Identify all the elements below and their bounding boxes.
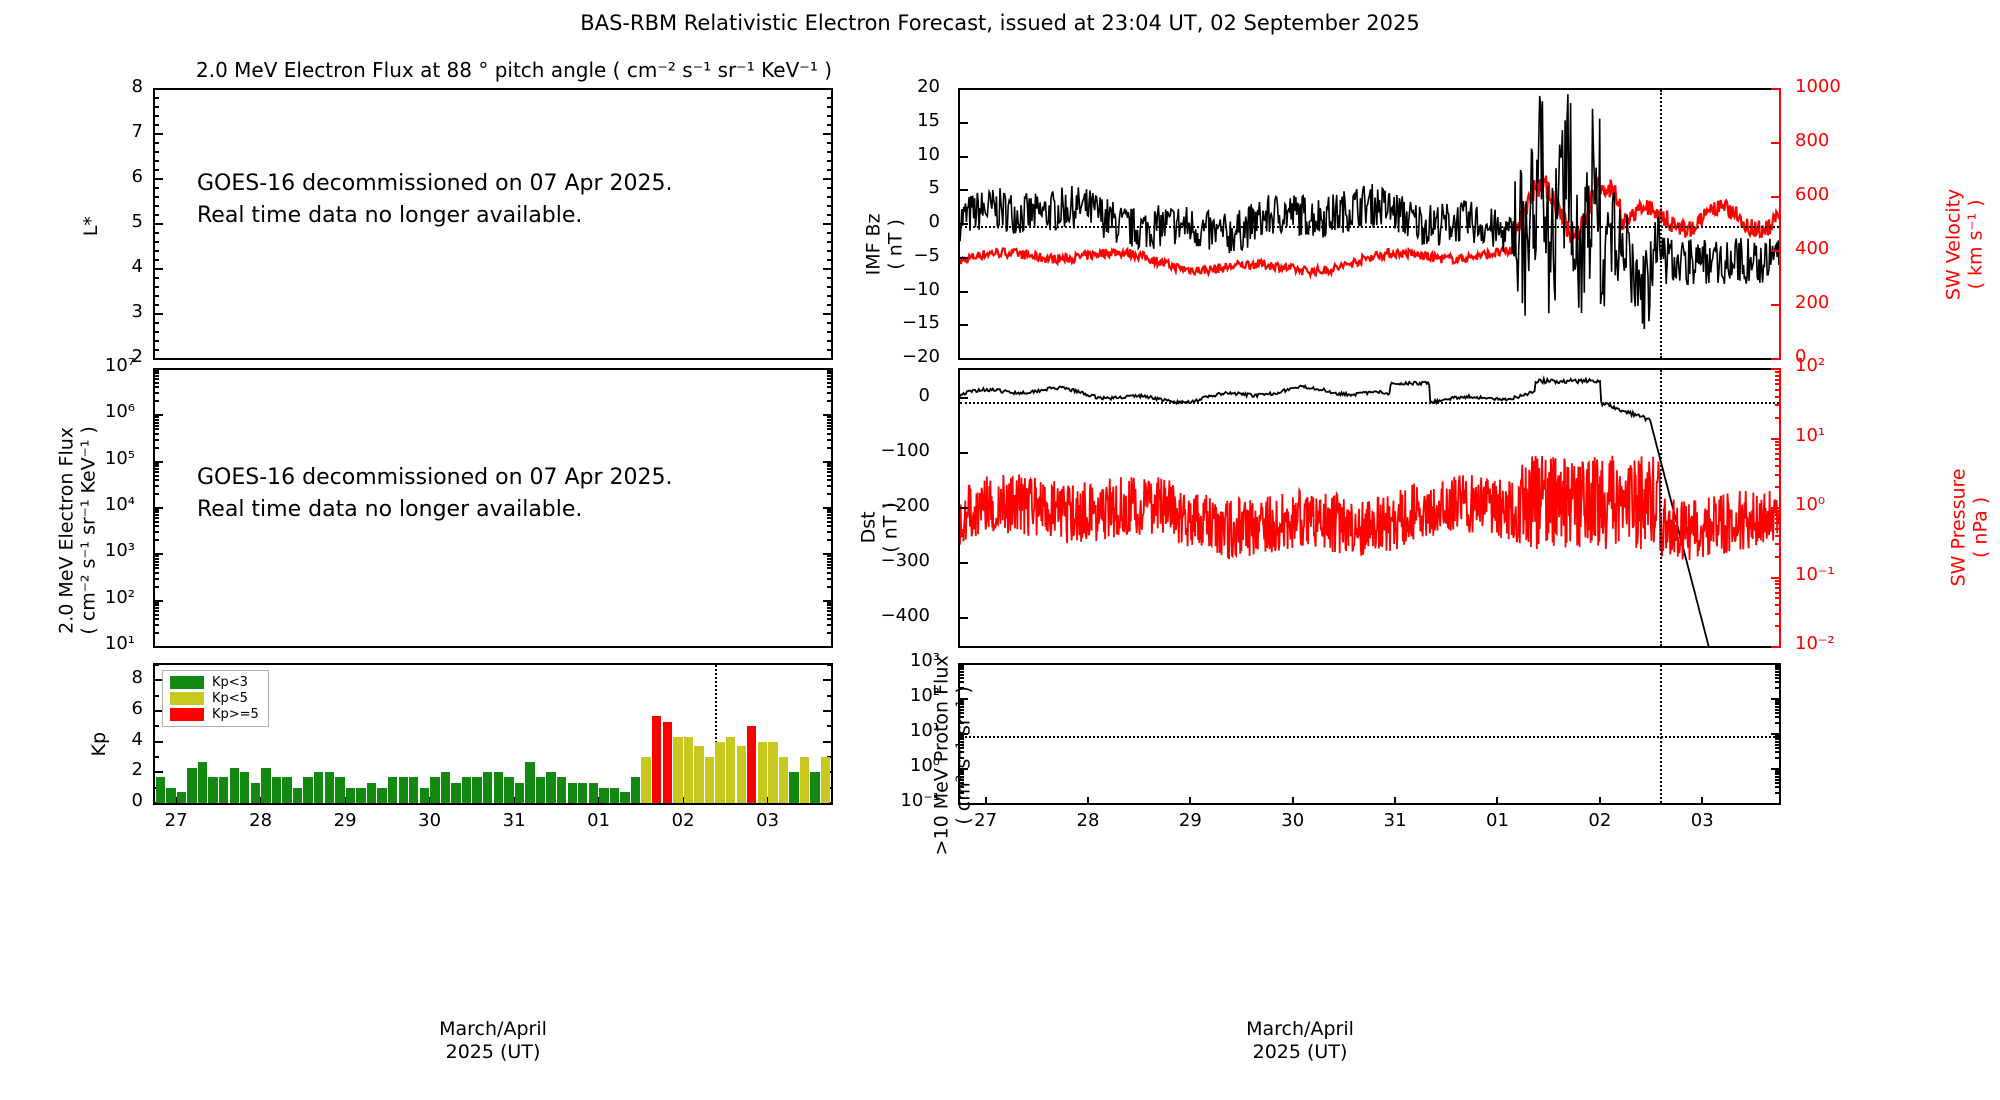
- eflux-yminor: [155, 465, 159, 467]
- lstar-ytickmark-2: [155, 178, 163, 180]
- lstar-ytickmark-1: [155, 133, 163, 135]
- proton-yminor-r: [1775, 771, 1779, 773]
- lstar-yminor-r-11: [827, 187, 831, 189]
- right-xtickmark: [1189, 797, 1191, 805]
- kp-bar: [568, 783, 577, 803]
- imf-bz-trace: [960, 90, 1779, 358]
- left-xtick-30: 30: [395, 810, 465, 831]
- right-xaxis-label: March/April 2025 (UT): [1140, 1018, 1460, 1064]
- swpressure-ytick-0: 10²: [1795, 355, 1885, 376]
- kp-bar: [673, 737, 682, 803]
- lstar-yminor-28: [155, 340, 159, 342]
- eflux-yminor-r: [827, 586, 831, 588]
- eflux-yminor-r: [827, 382, 831, 384]
- lstar-message-line2: Real time data no longer available.: [197, 200, 582, 232]
- eflux-yminor-r: [827, 468, 831, 470]
- kp-legend-label: Kp>=5: [212, 708, 259, 721]
- lstar-yminor-17: [155, 241, 159, 243]
- lstar-ytickmark-r-4: [823, 268, 831, 270]
- eflux-yminor: [155, 558, 159, 560]
- kp-bar: [779, 757, 788, 803]
- kp-legend-swatch: [170, 676, 204, 689]
- imf-ylabel-right: SW Velocity ( km s⁻¹ ): [1943, 134, 1988, 354]
- proton-yminor: [960, 709, 964, 711]
- right-xtickmark: [1394, 797, 1396, 805]
- left-xtick-01: 01: [564, 810, 634, 831]
- kp-bar: [208, 777, 217, 803]
- right-xtickmark: [1087, 797, 1089, 805]
- eflux-yminor-r: [827, 572, 831, 574]
- kp-legend-swatch: [170, 692, 204, 705]
- eflux-yminor: [155, 604, 159, 606]
- proton-yminor: [960, 716, 964, 718]
- lstar-yminor-r-14: [827, 214, 831, 216]
- right-xaxis-label-line2: 2025 (UT): [1253, 1041, 1348, 1063]
- kp-legend-row: Kp<5: [170, 692, 259, 705]
- eflux-yminor-r: [827, 511, 831, 513]
- proton-yminor: [960, 770, 964, 772]
- eflux-ytickmark-6: [155, 646, 163, 648]
- eflux-yminor: [155, 419, 159, 421]
- lstar-ytick-7: 7: [73, 121, 143, 142]
- proton-yminor: [960, 757, 964, 759]
- eflux-yminor-r: [827, 610, 831, 612]
- eflux-yminor: [155, 382, 159, 384]
- lstar-yminor-r-16: [827, 232, 831, 234]
- eflux-yminor: [155, 514, 159, 516]
- eflux-yminor-r: [827, 602, 831, 604]
- eflux-yminor: [155, 386, 159, 388]
- left-xaxis-label-line2: 2025 (UT): [446, 1041, 541, 1063]
- lstar-subtitle: 2.0 MeV Electron Flux at 88 ° pitch angl…: [196, 58, 832, 82]
- imf-ytickmark-3: [960, 189, 968, 191]
- eflux-yminor: [155, 555, 159, 557]
- lstar-yminor-r-7: [827, 151, 831, 153]
- kp-bar: [620, 792, 629, 803]
- left-xtick-28: 28: [226, 810, 296, 831]
- kp-legend-label: Kp<5: [212, 692, 248, 705]
- eflux-yminor: [155, 525, 159, 527]
- lstar-yminor-23: [155, 295, 159, 297]
- kp-legend-label: Kp<3: [212, 676, 248, 689]
- swvelocity-ylabel-line2: ( km s⁻¹ ): [1965, 199, 1987, 289]
- eflux-yminor: [155, 439, 159, 441]
- kp-bar: [399, 777, 408, 803]
- kp-bar: [314, 772, 323, 803]
- eflux-yminor-r: [827, 375, 831, 377]
- proton-yminor: [960, 736, 964, 738]
- proton-yminor: [960, 741, 964, 743]
- kp-bar: [578, 783, 587, 803]
- lstar-yminor-14: [155, 214, 159, 216]
- eflux-yminor: [155, 375, 159, 377]
- proton-yminor: [960, 687, 964, 689]
- proton-yminor-r: [1775, 681, 1779, 683]
- proton-yminor: [960, 677, 964, 679]
- imf-ytick-2: 10: [870, 144, 940, 165]
- lstar-yminor-29: [155, 349, 159, 351]
- kp-bar: [325, 772, 334, 803]
- eflux-yminor-r: [827, 485, 831, 487]
- proton-yminor: [960, 786, 964, 788]
- proton-yminor: [960, 771, 964, 773]
- eflux-yminor: [155, 372, 159, 374]
- lstar-yminor-r-19: [827, 259, 831, 261]
- kp-bar: [789, 772, 798, 803]
- eflux-yminor-r: [827, 525, 831, 527]
- kp-bar: [219, 777, 228, 803]
- lstar-ytick-4: 4: [73, 256, 143, 277]
- swpressure-ytick-2: 10⁰: [1795, 494, 1885, 515]
- lstar-yminor-r-4: [827, 124, 831, 126]
- kp-ytickmark-2: [155, 771, 163, 773]
- eflux-yminor-r: [827, 614, 831, 616]
- kp-bar: [737, 746, 746, 803]
- proton-yminor-r: [1775, 706, 1779, 708]
- eflux-yminor-r: [827, 521, 831, 523]
- right-xtick-28: 28: [1053, 810, 1123, 831]
- kp-ytick-8: 8: [73, 667, 143, 688]
- kp-bar: [758, 742, 767, 803]
- proton-yminor: [960, 712, 964, 714]
- eflux-message-line1: GOES-16 decommissioned on 07 Apr 2025.: [197, 462, 673, 494]
- lstar-yminor-r-23: [827, 295, 831, 297]
- proton-yminor-r: [1775, 782, 1779, 784]
- swvelocity-ytick-2: 600: [1795, 184, 1885, 205]
- imf-ytick-3: 5: [870, 177, 940, 198]
- imf-ytickmark-8: [960, 358, 968, 360]
- eflux-yminor-r: [827, 607, 831, 609]
- kp-bar: [377, 788, 386, 803]
- eflux-yminor-r: [827, 370, 831, 372]
- proton-yminor: [960, 681, 964, 683]
- eflux-yminor: [155, 517, 159, 519]
- proton-yminor-r: [1775, 786, 1779, 788]
- eflux-yminor: [155, 578, 159, 580]
- lstar-axes: GOES-16 decommissioned on 07 Apr 2025. R…: [153, 88, 833, 360]
- proton-yminor: [960, 674, 964, 676]
- kp-bar: [663, 722, 672, 803]
- kp-bar: [821, 757, 830, 803]
- lstar-message-line1: GOES-16 decommissioned on 07 Apr 2025.: [197, 168, 673, 200]
- eflux-yminor-r: [827, 509, 831, 511]
- proton-yminor: [960, 776, 964, 778]
- lstar-yminor-r-12: [827, 196, 831, 198]
- eflux-yminor: [155, 614, 159, 616]
- swvelocity-ytickmark-5: [1771, 358, 1779, 360]
- dst-ytick-2: −200: [860, 495, 930, 516]
- kp-bar: [282, 777, 291, 803]
- kp-bar: [610, 788, 619, 803]
- left-xtick-27: 27: [141, 810, 211, 831]
- dst-axes: [958, 368, 1781, 648]
- kp-ytick-0: 0: [73, 790, 143, 811]
- proton-yminor-r: [1775, 700, 1779, 702]
- kp-bar: [230, 768, 239, 803]
- eflux-yminor-r: [827, 618, 831, 620]
- swpressure-ytick-3: 10⁻¹: [1795, 564, 1885, 585]
- kp-ytickmark-4: [155, 741, 163, 743]
- proton-yminor: [960, 782, 964, 784]
- eflux-yminor-r: [827, 428, 831, 430]
- proton-yminor-r: [1775, 770, 1779, 772]
- eflux-yminor: [155, 602, 159, 604]
- lstar-yminor-16: [155, 232, 159, 234]
- lstar-ytickmark-5: [155, 313, 163, 315]
- lstar-ytickmark-r-2: [823, 178, 831, 180]
- lstar-yminor-r-3: [827, 115, 831, 117]
- eflux-yminor-r: [827, 558, 831, 560]
- eflux-yminor-r: [827, 425, 831, 427]
- lstar-yminor-21: [155, 277, 159, 279]
- proton-yminor: [960, 668, 964, 670]
- kp-bar: [747, 726, 756, 803]
- proton-yminor-r: [1775, 776, 1779, 778]
- imf-ytick-0: 20: [870, 76, 940, 97]
- imf-ytick-8: −20: [870, 346, 940, 367]
- imf-ytickmark-2: [960, 156, 968, 158]
- kp-bar: [303, 777, 312, 803]
- swvelocity-ytick-3: 400: [1795, 238, 1885, 259]
- imf-ytick-1: 15: [870, 110, 940, 131]
- eflux-yminor-r: [827, 447, 831, 449]
- lstar-yminor-26: [155, 322, 159, 324]
- kp-bar: [810, 772, 819, 803]
- kp-bar: [251, 783, 260, 803]
- left-xtick-03: 03: [733, 810, 803, 831]
- kp-bar: [240, 772, 249, 803]
- eflux-yminor-r: [827, 561, 831, 563]
- eflux-yminor: [155, 509, 159, 511]
- proton-yminor-r: [1775, 773, 1779, 775]
- lstar-yminor-24: [155, 304, 159, 306]
- proton-yminor-r: [1775, 709, 1779, 711]
- proton-yminor-r: [1775, 677, 1779, 679]
- proton-yminor-r: [1775, 722, 1779, 724]
- lstar-yminor-7: [155, 151, 159, 153]
- lstar-ytickmark-r-5: [823, 313, 831, 315]
- eflux-yminor: [155, 572, 159, 574]
- kp-bar: [546, 772, 555, 803]
- left-xtick-31: 31: [479, 810, 549, 831]
- kp-bar: [451, 783, 460, 803]
- imf-ytickmark-4: [960, 223, 968, 225]
- kp-bar: [525, 762, 534, 803]
- swvelocity-ytickmark-4: [1771, 304, 1779, 306]
- eflux-yminor: [155, 567, 159, 569]
- kp-bar: [504, 777, 513, 803]
- lstar-yminor-r-2: [827, 106, 831, 108]
- eflux-yminor-r: [827, 422, 831, 424]
- dst-ytickmark-0: [960, 397, 968, 399]
- kp-bar: [388, 777, 397, 803]
- lstar-ytick-3: 3: [73, 301, 143, 322]
- proton-yminor: [960, 751, 964, 753]
- eflux-ytick-3: 10⁴: [65, 494, 135, 515]
- kp-bar: [356, 788, 365, 803]
- dst-ytickmark-2: [960, 507, 968, 509]
- dst-ytickmark-1: [960, 452, 968, 454]
- proton-yminor-r: [1775, 716, 1779, 718]
- kp-bar: [494, 772, 503, 803]
- eflux-yminor: [155, 416, 159, 418]
- dst-ytickmark-3: [960, 562, 968, 564]
- kp-bar: [536, 777, 545, 803]
- proton-ytick-4: 10⁻¹: [870, 790, 940, 811]
- eflux-ytick-6: 10¹: [65, 633, 135, 654]
- proton-yminor: [960, 735, 964, 737]
- eflux-yminor-r: [827, 517, 831, 519]
- kp-bar: [430, 777, 439, 803]
- eflux-message-line2: Real time data no longer available.: [197, 494, 582, 526]
- kp-bar: [420, 788, 429, 803]
- eflux-yminor-r: [827, 514, 831, 516]
- proton-ytickmark-r-4: [1771, 803, 1779, 805]
- forecast-figure: BAS-RBM Relativistic Electron Forecast, …: [0, 0, 2000, 1100]
- proton-threshold-line: [960, 736, 1779, 738]
- eflux-yminor: [155, 539, 159, 541]
- eflux-yminor-r: [827, 564, 831, 566]
- proton-yminor-r: [1775, 757, 1779, 759]
- lstar-yminor-22: [155, 286, 159, 288]
- imf-axes: [958, 88, 1781, 360]
- lstar-yminor-19: [155, 259, 159, 261]
- swvelocity-ytick-0: 1000: [1795, 76, 1885, 97]
- proton-yminor-r: [1775, 687, 1779, 689]
- kp-bar: [705, 757, 714, 803]
- eflux-yminor: [155, 607, 159, 609]
- proton-yminor-r: [1775, 665, 1779, 667]
- imf-ytick-4: 0: [870, 211, 940, 232]
- swpressure-ylabel-line2: ( nPa ): [1970, 497, 1992, 558]
- kp-bar: [694, 746, 703, 803]
- swvelocity-ytickmark-3: [1771, 250, 1779, 252]
- kp-bar: [768, 742, 777, 803]
- proton-yminor-r: [1775, 747, 1779, 749]
- kp-yminor: [155, 725, 159, 727]
- swvelocity-ytick-1: 800: [1795, 130, 1885, 151]
- lstar-yminor-6: [155, 142, 159, 144]
- eflux-yminor-r: [827, 632, 831, 634]
- kp-bar: [261, 768, 270, 803]
- kp-bar: [335, 777, 344, 803]
- kp-yminor: [155, 695, 159, 697]
- kp-bar: [483, 772, 492, 803]
- kp-bar: [589, 783, 598, 803]
- dst-forecast-divider: [1660, 370, 1662, 646]
- lstar-yminor-r-1: [827, 97, 831, 99]
- kp-bar: [652, 716, 661, 803]
- kp-bar: [599, 788, 608, 803]
- eflux-ytick-4: 10³: [65, 540, 135, 561]
- imf-ytickmark-1: [960, 122, 968, 124]
- proton-yminor: [960, 738, 964, 740]
- lstar-yminor-r-27: [827, 331, 831, 333]
- kp-bar: [293, 788, 302, 803]
- eflux-yminor: [155, 468, 159, 470]
- swpressure-ytickmark-2: [1771, 507, 1779, 509]
- eflux-yminor-r: [827, 400, 831, 402]
- proton-yminor-r: [1775, 671, 1779, 673]
- proton-yminor: [960, 722, 964, 724]
- lstar-ytickmark-0: [155, 88, 163, 90]
- left-xtick-02: 02: [648, 810, 718, 831]
- proton-yminor: [960, 700, 964, 702]
- left-xaxis-label: March/April 2025 (UT): [333, 1018, 653, 1064]
- eflux-yminor-r: [827, 465, 831, 467]
- lstar-yminor-r-13: [827, 205, 831, 207]
- proton-yminor: [960, 779, 964, 781]
- kp-bar: [409, 777, 418, 803]
- kp-bar: [441, 772, 450, 803]
- kp-ytick-2: 2: [73, 759, 143, 780]
- imf-ytickmark-5: [960, 257, 968, 259]
- eflux-yminor: [155, 370, 159, 372]
- imf-zero-line: [960, 226, 1779, 228]
- right-xtick-29: 29: [1155, 810, 1225, 831]
- eflux-yminor-r: [827, 531, 831, 533]
- imf-ytick-5: −5: [870, 245, 940, 266]
- eflux-ytick-1: 10⁶: [65, 401, 135, 422]
- eflux-yminor-r: [827, 378, 831, 380]
- kp-ytick-4: 4: [73, 729, 143, 750]
- proton-yminor: [960, 747, 964, 749]
- lstar-yminor-r-24: [827, 304, 831, 306]
- proton-yminor-r: [1775, 736, 1779, 738]
- swpressure-ytick-4: 10⁻²: [1795, 633, 1885, 654]
- eflux-ytick-0: 10⁷: [65, 355, 135, 376]
- lstar-yminor-r-26: [827, 322, 831, 324]
- lstar-yminor-12: [155, 196, 159, 198]
- proton-ytickmark-4: [960, 803, 968, 805]
- swpressure-ytickmark-1: [1771, 438, 1779, 440]
- lstar-ytickmark-4: [155, 268, 163, 270]
- kp-bar: [684, 737, 693, 803]
- proton-yminor-r: [1775, 703, 1779, 705]
- kp-bar: [346, 788, 355, 803]
- proton-yminor-r: [1775, 701, 1779, 703]
- eflux-yminor-r: [827, 624, 831, 626]
- proton-forecast-divider: [1660, 665, 1662, 803]
- dst-ytick-4: −400: [860, 605, 930, 626]
- kp-bar: [631, 777, 640, 803]
- eflux-yminor-r: [827, 539, 831, 541]
- eflux-yminor: [155, 531, 159, 533]
- eflux-yminor: [155, 425, 159, 427]
- imf-ytick-7: −15: [870, 312, 940, 333]
- eflux-yminor-r: [827, 604, 831, 606]
- kp-bar: [166, 788, 175, 803]
- proton-ytick-1: 10²: [870, 685, 940, 706]
- proton-yminor: [960, 792, 964, 794]
- dst-ylabel-left-line1: Dst: [858, 511, 880, 543]
- proton-yminor: [960, 701, 964, 703]
- lstar-yminor-r-17: [827, 241, 831, 243]
- swpressure-ytickmark-3: [1771, 577, 1779, 579]
- swpressure-ytick-1: 10¹: [1795, 425, 1885, 446]
- proton-ytick-0: 10³: [870, 650, 940, 671]
- eflux-yminor-r: [827, 555, 831, 557]
- proton-yminor-r: [1775, 741, 1779, 743]
- kp-bar: [367, 783, 376, 803]
- eflux-yminor: [155, 428, 159, 430]
- eflux-yminor: [155, 521, 159, 523]
- swvelocity-ytickmark-2: [1771, 196, 1779, 198]
- dst-right-spine: [1779, 368, 1781, 648]
- lstar-yminor-8: [155, 160, 159, 162]
- kp-yminor: [155, 664, 159, 666]
- proton-yminor: [960, 773, 964, 775]
